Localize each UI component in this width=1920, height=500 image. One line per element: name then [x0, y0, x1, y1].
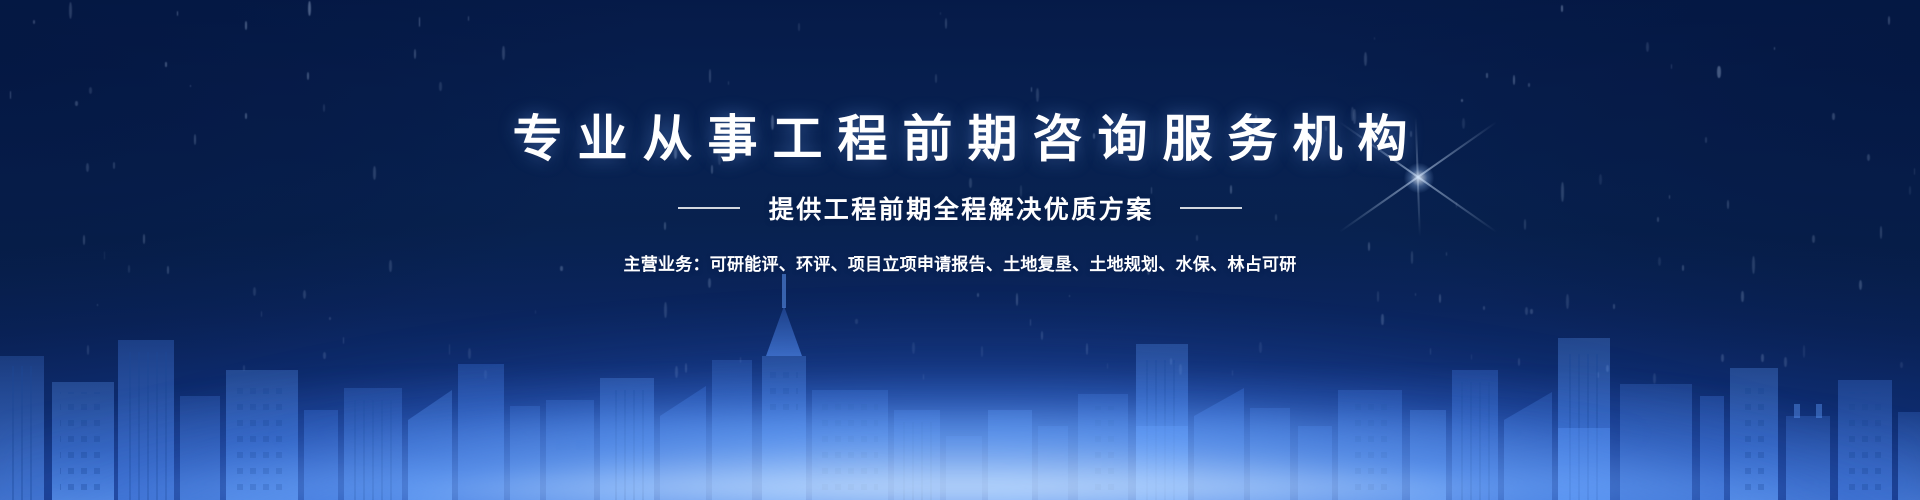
banner-services-line: 主营业务：可研能评、环评、项目立项申请报告、土地复垦、土地规划、水保、林占可研: [0, 250, 1920, 275]
banner-headline: 专业从事工程前期咨询服务机构: [0, 0, 1920, 166]
banner-subtitle-row: 提供工程前期全程解决优质方案: [0, 190, 1920, 226]
subtitle-rule-left-icon: [678, 207, 740, 209]
banner-subtitle: 提供工程前期全程解决优质方案: [766, 190, 1154, 226]
banner-copy-block: 专业从事工程前期咨询服务机构 提供工程前期全程解决优质方案 主营业务：可研能评、…: [0, 0, 1920, 275]
promo-banner: 专业从事工程前期咨询服务机构 提供工程前期全程解决优质方案 主营业务：可研能评、…: [0, 0, 1920, 500]
subtitle-rule-right-icon: [1180, 207, 1242, 209]
